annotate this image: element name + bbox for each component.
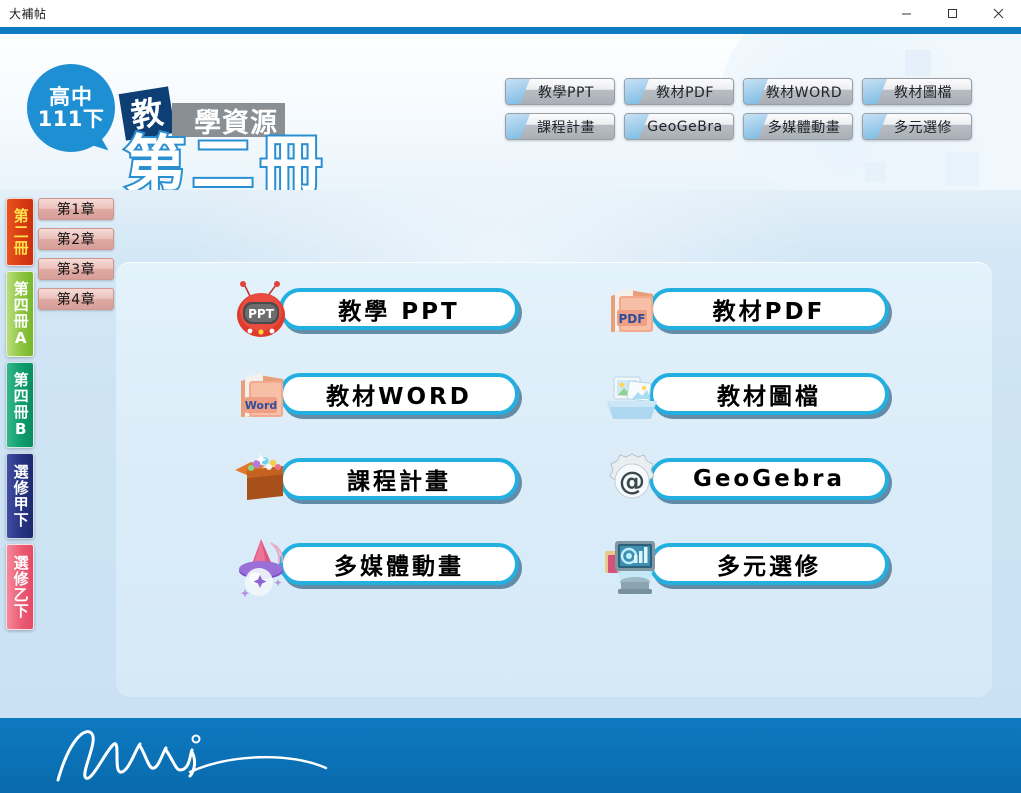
header-quick-row-1: 教學PPT 教材PDF 教材WORD 教材圖檔 (505, 78, 995, 105)
image-tray-icon (601, 365, 663, 427)
resource-row: 多媒體動畫 (231, 535, 891, 597)
accent-bar (0, 27, 1021, 34)
quick-button-label: 多媒體動畫 (756, 117, 841, 137)
quick-button-label: 教學PPT (526, 82, 594, 102)
quick-button-images[interactable]: 教材圖檔 (862, 78, 972, 105)
resource-button-electives[interactable]: 多元選修 (649, 543, 889, 585)
resource-item-geogebra: @ GeoGebra (601, 450, 889, 512)
resource-button-word[interactable]: 教材WORD (279, 373, 519, 415)
gear-at-icon: @ (601, 450, 663, 512)
nani-brand-logo (40, 724, 340, 786)
sidebar-item-elective-a[interactable]: 選修甲下 (6, 453, 34, 539)
page-header: 高中 111下 教 學資源 第二冊 教學PPT 教材PDF 教材WORD (0, 34, 1021, 190)
svg-text:Word: Word (245, 399, 278, 412)
resource-button-ppt[interactable]: 教學 PPT (279, 288, 519, 330)
svg-text:PDF: PDF (619, 312, 646, 326)
header-square-decoration (865, 162, 885, 182)
header-square-decoration (905, 50, 931, 76)
minimize-button[interactable] (883, 0, 929, 27)
chapter-button-2[interactable]: 第2章 (38, 228, 114, 250)
resource-item-syllabus: 課程計畫 (231, 450, 519, 512)
quick-button-label: 教材PDF (644, 82, 714, 102)
quick-button-label: 教材WORD (754, 82, 842, 102)
chapter-button-1[interactable]: 第1章 (38, 198, 114, 220)
resource-item-ppt: PPT 教學 PPT (231, 280, 519, 342)
brand-logo: 高中 111下 教 學資源 第二冊 (22, 40, 352, 190)
header-quick-row-2: 課程計畫 GeoGeBra 多媒體動畫 多元選修 (505, 113, 995, 140)
quick-button-label: 多元選修 (882, 117, 952, 137)
sidebar-item-volume-4a[interactable]: 第四冊A (6, 271, 34, 357)
svg-text:@: @ (619, 467, 645, 497)
window-title: 大補帖 (9, 5, 47, 22)
content-stage: 第二冊 第四冊A 第四冊B 選修甲下 選修乙下 第1章 第2章 第3章 第4章 (0, 190, 1021, 718)
pdf-folder-icon: PDF (601, 280, 663, 342)
close-button[interactable] (975, 0, 1021, 27)
quick-button-syllabus[interactable]: 課程計畫 (505, 113, 615, 140)
resource-item-multimedia: 多媒體動畫 (231, 535, 519, 597)
resource-row: 課程計畫 @ GeoGebra (231, 450, 891, 512)
quick-button-label: GeoGeBra (635, 119, 722, 135)
volume-tab-list: 第二冊 第四冊A 第四冊B 選修甲下 選修乙下 (6, 198, 34, 635)
resource-item-word: Word 教材WORD (231, 365, 519, 427)
header-quick-buttons: 教學PPT 教材PDF 教材WORD 教材圖檔 課程計畫 (505, 78, 995, 148)
maximize-button[interactable] (929, 0, 975, 27)
resource-button-geogebra[interactable]: GeoGebra (649, 458, 889, 500)
quick-button-geogebra[interactable]: GeoGeBra (624, 113, 734, 140)
quick-button-multimedia[interactable]: 多媒體動畫 (743, 113, 853, 140)
resource-item-electives: 多元選修 (601, 535, 889, 597)
word-folder-icon: Word (231, 365, 293, 427)
quick-button-ppt[interactable]: 教學PPT (505, 78, 615, 105)
resource-item-pdf: PDF 教材PDF (601, 280, 889, 342)
quick-button-pdf[interactable]: 教材PDF (624, 78, 734, 105)
main-panel: PPT 教學 PPT PDF (116, 262, 992, 697)
page-footer: 建議使用office 2007 以上版本 服務中心 回首頁 (0, 718, 1021, 793)
quick-button-label: 課程計畫 (525, 117, 595, 137)
treasure-box-icon (231, 450, 293, 512)
grade-badge-line1: 高中 (49, 86, 93, 108)
resource-grid: PPT 教學 PPT PDF (231, 280, 891, 620)
grade-badge-line2: 111下 (38, 108, 105, 130)
monitor-chart-icon (601, 535, 663, 597)
resource-row: Word 教材WORD (231, 365, 891, 427)
resource-row: PPT 教學 PPT PDF (231, 280, 891, 342)
chapter-button-4[interactable]: 第4章 (38, 288, 114, 310)
chapter-list: 第1章 第2章 第3章 第4章 (38, 198, 114, 318)
resource-button-multimedia[interactable]: 多媒體動畫 (279, 543, 519, 585)
resource-button-pdf[interactable]: 教材PDF (649, 288, 889, 330)
sidebar-item-elective-b[interactable]: 選修乙下 (6, 544, 34, 630)
quick-button-word[interactable]: 教材WORD (743, 78, 853, 105)
magic-hat-icon (231, 535, 293, 597)
page-title: 第二冊 (124, 134, 328, 190)
resource-item-images: 教材圖檔 (601, 365, 889, 427)
chapter-button-3[interactable]: 第3章 (38, 258, 114, 280)
application-window: 大補帖 高中 111下 教 學資源 第二冊 (0, 0, 1021, 793)
ppt-tv-icon: PPT (231, 280, 293, 342)
sidebar-item-volume-2[interactable]: 第二冊 (6, 198, 34, 266)
window-controls (883, 0, 1021, 27)
title-bar: 大補帖 (0, 0, 1021, 27)
grade-badge: 高中 111下 (27, 64, 115, 152)
svg-text:PPT: PPT (248, 307, 275, 321)
sidebar-item-volume-4b[interactable]: 第四冊B (6, 362, 34, 448)
resource-button-images[interactable]: 教材圖檔 (649, 373, 889, 415)
quick-button-label: 教材圖檔 (882, 82, 952, 102)
quick-button-electives[interactable]: 多元選修 (862, 113, 972, 140)
resource-button-syllabus[interactable]: 課程計畫 (279, 458, 519, 500)
header-square-decoration (945, 152, 979, 186)
